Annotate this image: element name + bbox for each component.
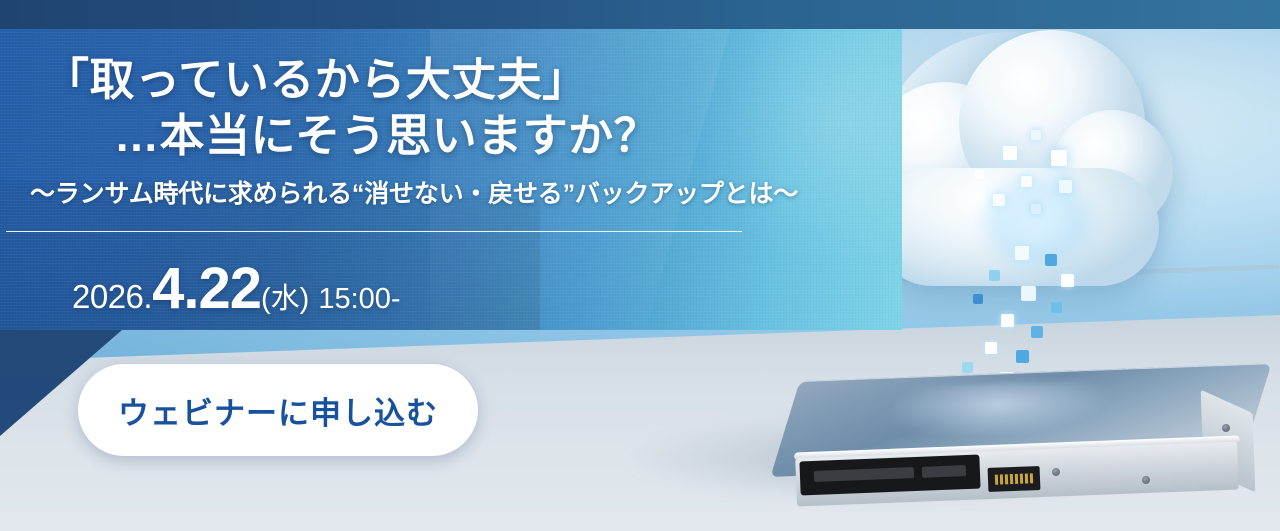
data-pixel <box>985 342 997 354</box>
hdd-screw <box>1142 476 1150 484</box>
page-title: 「取っているから大丈夫」 …本当にそう思いますか？ <box>0 52 902 164</box>
data-pixel <box>1016 350 1029 363</box>
data-pixel <box>1051 302 1062 313</box>
data-pixel <box>1061 274 1074 287</box>
event-time: 15:00- <box>318 283 400 316</box>
cloud-3d-icon <box>855 18 1185 348</box>
event-daymonth: 4.22 <box>152 260 261 318</box>
data-pixel <box>1031 204 1041 214</box>
top-accent-band <box>0 0 1280 29</box>
register-webinar-label: ウェビナーに申し込む <box>118 388 438 433</box>
data-pixel <box>1059 180 1072 193</box>
data-pixel <box>1021 176 1032 187</box>
event-year: 2026. <box>72 278 152 316</box>
register-webinar-button[interactable]: ウェビナーに申し込む <box>78 364 478 456</box>
data-pixel <box>989 270 1000 281</box>
data-pixel <box>1015 246 1029 260</box>
data-pixel <box>1021 286 1036 301</box>
title-line-2: …本当にそう思いますか？ <box>114 108 902 164</box>
data-pixel <box>1001 314 1014 327</box>
data-pixel <box>973 294 983 304</box>
subtitle: 〜ランサム時代に求められる“消せない・戻せる”バックアップとは〜 <box>30 178 798 210</box>
webinar-banner: 「取っているから大丈夫」 …本当にそう思いますか？ 〜ランサム時代に求められる“… <box>0 0 1280 531</box>
data-pixel <box>1051 150 1067 166</box>
data-pixel <box>1031 326 1043 338</box>
hdd-pin-header <box>988 466 1041 492</box>
data-pixel <box>1045 254 1057 266</box>
data-pixel <box>975 170 984 179</box>
hdd-screw <box>1222 424 1230 432</box>
data-pixel <box>1003 146 1017 160</box>
event-dayofweek: (水) <box>261 275 309 317</box>
divider-rule <box>6 231 742 232</box>
cloud-inner-glow <box>947 146 1127 296</box>
event-datetime: 2026. 4.22 (水) 15:00- <box>72 260 401 318</box>
hdd-screw <box>1052 468 1060 476</box>
title-line-1: 「取っているから大丈夫」 <box>44 52 902 108</box>
hard-disk-drive-icon <box>770 372 1270 517</box>
data-pixel <box>993 194 1005 206</box>
data-pixel <box>1031 130 1041 140</box>
hdd-sata-connector <box>799 455 980 496</box>
